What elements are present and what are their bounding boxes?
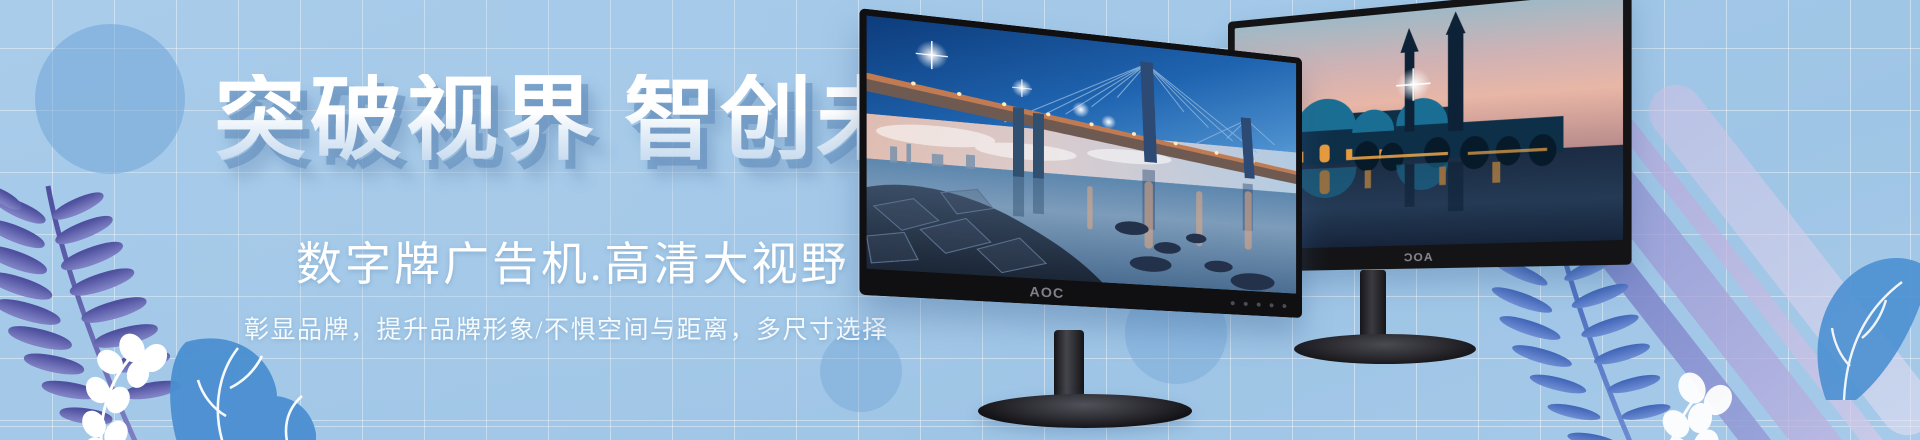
monitor-front-screen bbox=[867, 16, 1297, 294]
monitor-front-brand-logo: AOC bbox=[1029, 283, 1064, 301]
banner-tagline: 彰显品牌，提升品牌形象/不惧空间与距离，多尺寸选择 bbox=[244, 310, 888, 346]
bridge-sunset-photo bbox=[867, 16, 1297, 294]
monitor-front-stand-base bbox=[978, 394, 1192, 428]
banner-subtitle: 数字牌广告机.高清大视野 bbox=[296, 228, 850, 294]
banner-text-block: 突破视界智创未来 数字牌广告机.高清大视野 彰显品牌，提升品牌形象/不惧空间与距… bbox=[0, 0, 900, 440]
monitor-front: AOC bbox=[890, 58, 1370, 418]
promo-banner: 突破视界智创未来 数字牌广告机.高清大视野 彰显品牌，提升品牌形象/不惧空间与距… bbox=[0, 0, 1920, 440]
headline-part-1: 突破视界 bbox=[214, 69, 598, 171]
monitor-front-panel: AOC bbox=[860, 8, 1302, 318]
monitor-back-brand-logo: AOC bbox=[1403, 251, 1433, 264]
monitor-front-osd-buttons[interactable] bbox=[1231, 301, 1287, 308]
